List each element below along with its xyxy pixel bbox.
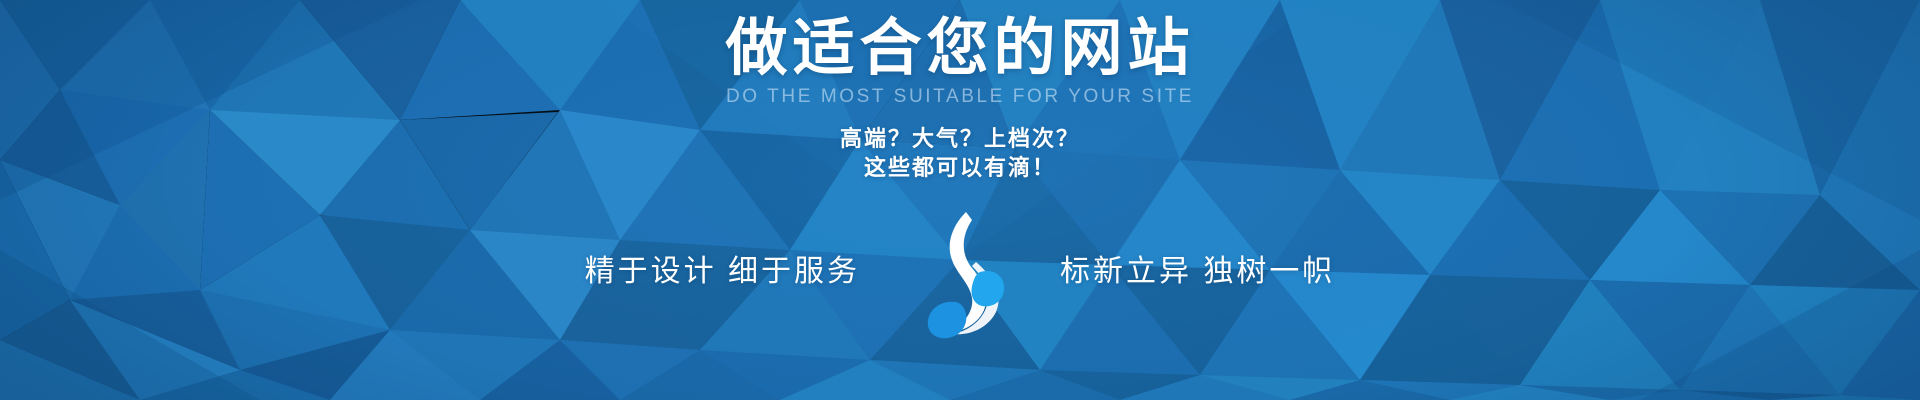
page-title: 做适合您的网站 xyxy=(725,14,1194,84)
hero-banner: 做适合您的网站 DO THE MOST SUITABLE FOR YOUR SI… xyxy=(0,0,1920,400)
subtitle-english: DO THE MOST SUITABLE FOR YOUR SITE xyxy=(726,86,1194,108)
slogan-left: 精于设计 细于服务 xyxy=(585,254,860,290)
leaf-swirl-logo-icon xyxy=(912,210,1008,340)
slogan-right: 标新立异 独树一帜 xyxy=(1060,254,1335,290)
tagline-line-1: 高端？大气？上档次？ xyxy=(840,124,1080,153)
banner-content: 做适合您的网站 DO THE MOST SUITABLE FOR YOUR SI… xyxy=(0,0,1920,400)
slogan-row: 精于设计 细于服务 标新立异 独树一帜 xyxy=(585,204,1336,340)
tagline-line-2: 这些都可以有滴！ xyxy=(840,153,1080,182)
tagline-block: 高端？大气？上档次？ 这些都可以有滴！ xyxy=(840,124,1080,182)
